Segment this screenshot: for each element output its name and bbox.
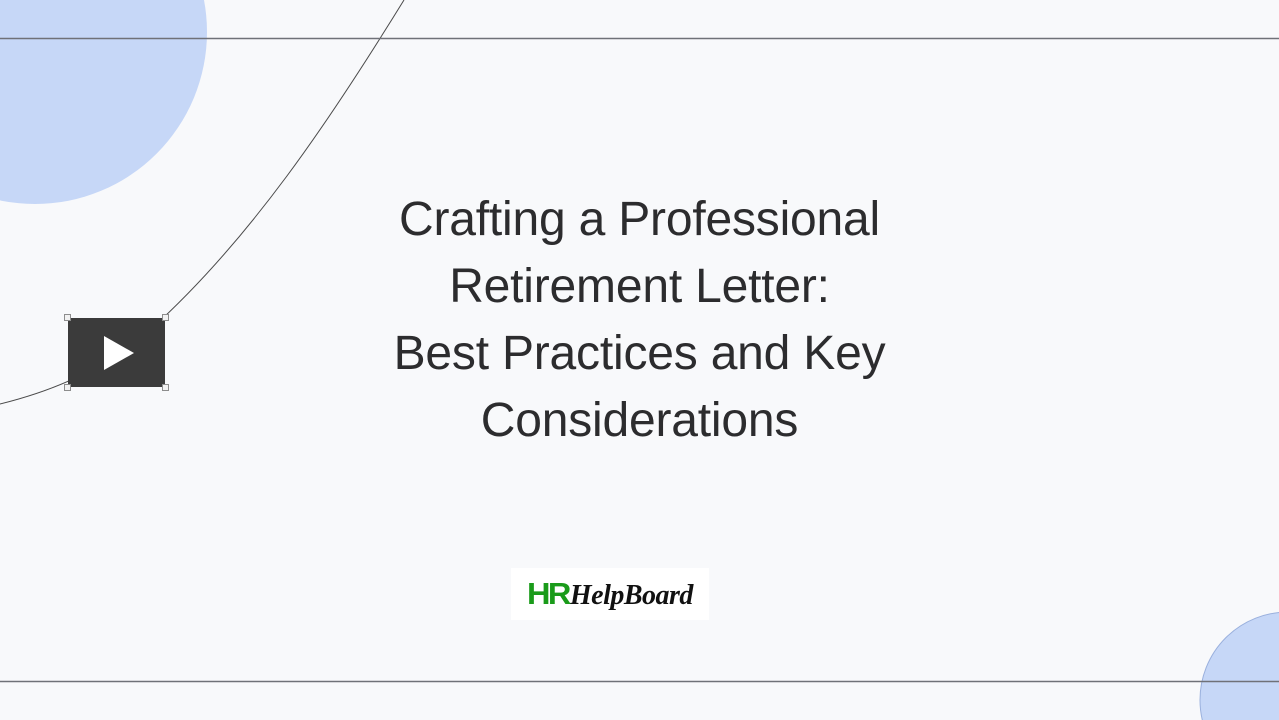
slide-canvas: Crafting a Professional Retirement Lette… (0, 0, 1279, 720)
selection-handle-top-left[interactable] (64, 314, 71, 321)
slide-title: Crafting a Professional Retirement Lette… (0, 186, 1279, 454)
title-line-2: Retirement Letter: (0, 253, 1279, 320)
decorative-circle-bottom-right (1200, 612, 1279, 720)
decorative-circle-top-left (0, 0, 207, 204)
title-line-3: Best Practices and Key (0, 320, 1279, 387)
title-line-4: Considerations (0, 387, 1279, 454)
video-frame[interactable] (68, 318, 165, 387)
brand-logo-wordmark: HelpBoard (570, 582, 693, 610)
selection-handle-top-right[interactable] (162, 314, 169, 321)
video-placeholder[interactable] (68, 318, 165, 387)
selection-handle-bottom-left[interactable] (64, 384, 71, 391)
brand-logo: HR HelpBoard (511, 568, 709, 620)
brand-logo-mark: HR (527, 578, 569, 609)
selection-handle-bottom-right[interactable] (162, 384, 169, 391)
title-line-1: Crafting a Professional (0, 186, 1279, 253)
play-icon[interactable] (104, 336, 134, 370)
brand-logo-inner: HR HelpBoard (527, 578, 693, 610)
